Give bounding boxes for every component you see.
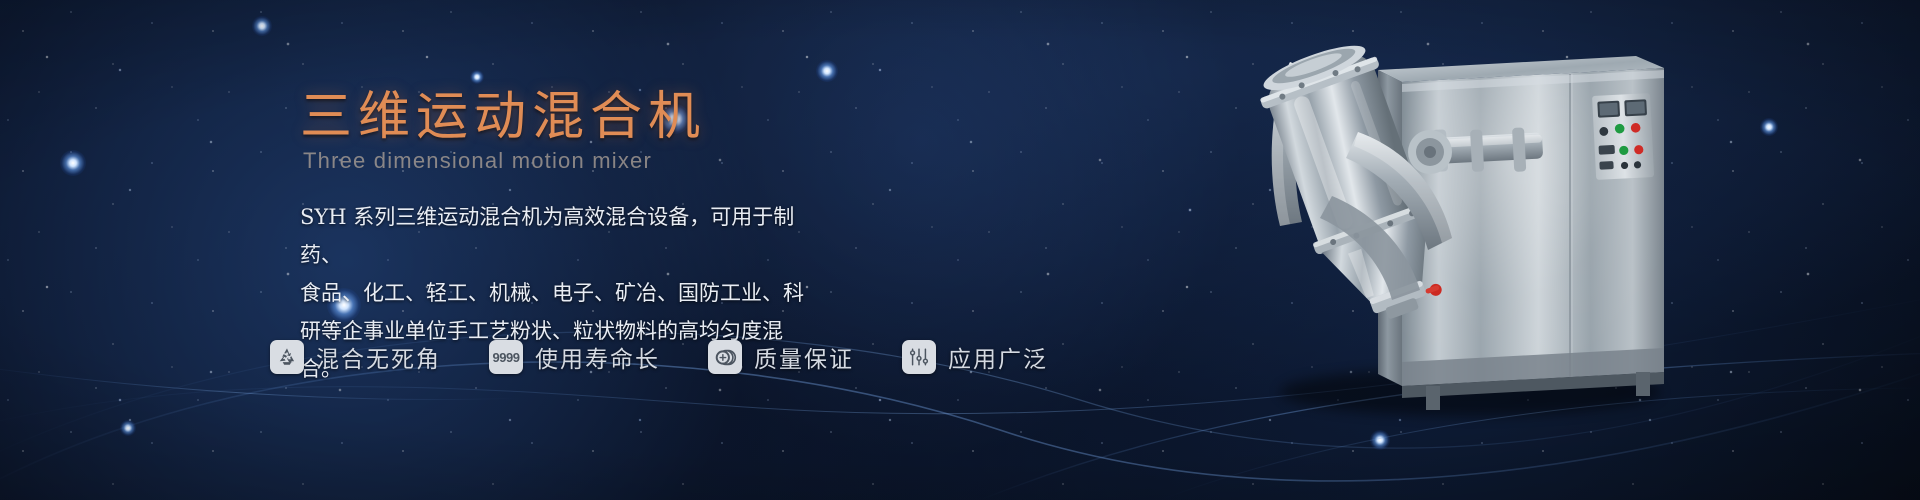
product-hero-banner: 三维运动混合机 Three dimensional motion mixer S… xyxy=(0,0,1920,500)
recycle-icon xyxy=(270,340,304,374)
page-subtitle: Three dimensional motion mixer xyxy=(303,148,652,174)
page-title: 三维运动混合机 xyxy=(300,74,706,149)
feature-label: 质量保证 xyxy=(754,340,854,374)
counter-9999-icon: 9999 xyxy=(489,340,523,374)
product-image xyxy=(1140,0,1920,500)
feature-item-long-life[interactable]: 9999 使用寿命长 xyxy=(489,340,660,374)
feature-list: 混合无死角 9999 使用寿命长 xyxy=(270,340,1048,374)
coins-quality-icon xyxy=(708,340,742,374)
feature-item-wide-application[interactable]: 应用广泛 xyxy=(902,340,1048,374)
banner-text-block: 三维运动混合机 Three dimensional motion mixer S… xyxy=(0,0,880,500)
sliders-icon xyxy=(902,340,936,374)
description-line: SYH 系列三维运动混合机为高效混合设备，可用于制药、 xyxy=(300,198,820,274)
counter-value: 9999 xyxy=(493,350,520,365)
feature-label: 使用寿命长 xyxy=(535,340,660,374)
feature-label: 混合无死角 xyxy=(316,340,441,374)
description-line: 食品、化工、轻工、机械、电子、矿冶、国防工业、科 xyxy=(300,274,820,312)
feature-item-quality-guarantee[interactable]: 质量保证 xyxy=(708,340,854,374)
feature-item-no-dead-angle[interactable]: 混合无死角 xyxy=(270,340,441,374)
feature-label: 应用广泛 xyxy=(948,340,1048,374)
